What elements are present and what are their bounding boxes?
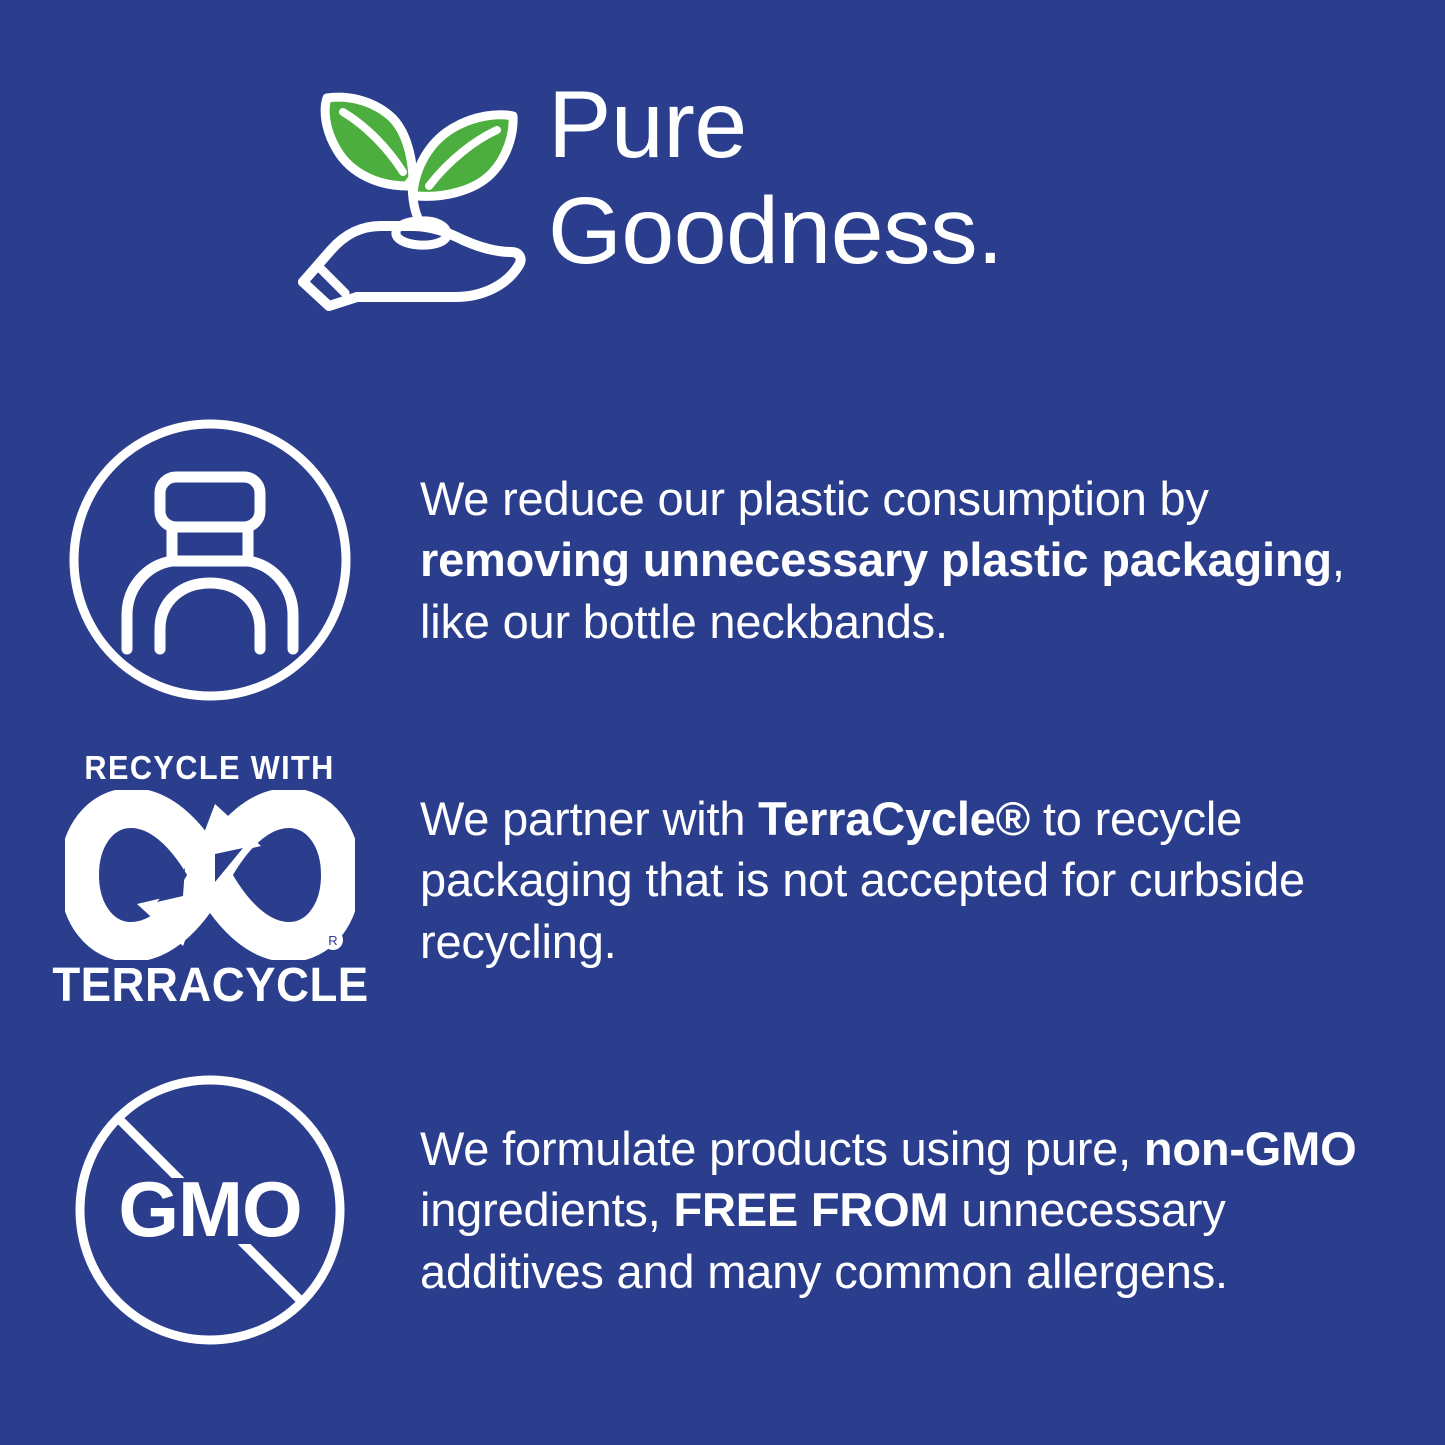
text-segment-bold: removing unnecessary plastic packaging (420, 533, 1332, 586)
feature-text-plastic: We reduce our plastic consumption by rem… (420, 468, 1405, 651)
brand-wordmark: Pure Goodness. (548, 72, 1003, 285)
text-segment: We partner with (420, 792, 758, 845)
registered-mark-icon: R (323, 930, 343, 950)
feature-text-terracycle: We partner with TerraCycle® to recycle p… (420, 788, 1405, 971)
brand-line-1: Pure (548, 72, 1003, 178)
text-segment: We reduce our plastic consumption by (420, 472, 1209, 525)
svg-text:R: R (328, 933, 337, 948)
terracycle-bottom-label: TERRACYCLE (52, 962, 368, 1010)
bottle-in-circle-icon (65, 415, 355, 705)
feature-icon-cell: RECYCLE WITH R TE (0, 751, 420, 1010)
no-gmo-icon: GMO (70, 1070, 350, 1350)
terracycle-top-label: RECYCLE WITH (85, 751, 335, 784)
feature-row-gmo: GMO We formulate products using pure, no… (0, 1060, 1445, 1360)
feature-text-cell: We reduce our plastic consumption by rem… (420, 421, 1445, 698)
text-segment: ingredients, (420, 1183, 673, 1236)
feature-text-gmo: We formulate products using pure, non-GM… (420, 1118, 1405, 1301)
gmo-label: GMO (118, 1165, 301, 1253)
feature-icon-cell (0, 415, 420, 705)
brand-header: Pure Goodness. (295, 72, 1345, 322)
text-segment-bold: TerraCycle® (758, 792, 1030, 845)
infographic-page: Pure Goodness. (0, 0, 1445, 1445)
terracycle-logo-icon: RECYCLE WITH R TE (60, 751, 360, 1010)
brand-line-2: Goodness. (548, 178, 1003, 284)
feature-text-cell: We formulate products using pure, non-GM… (420, 1071, 1445, 1348)
hand-holding-sprout-icon (295, 82, 530, 312)
feature-icon-cell: GMO (0, 1070, 420, 1350)
text-segment-bold: non-GMO (1144, 1122, 1357, 1175)
text-segment-bold: FREE FROM (673, 1183, 948, 1236)
feature-row-plastic: We reduce our plastic consumption by rem… (0, 400, 1445, 720)
feature-row-terracycle: RECYCLE WITH R TE (0, 740, 1445, 1020)
text-segment: We formulate products using pure, (420, 1122, 1144, 1175)
feature-text-cell: We partner with TerraCycle® to recycle p… (420, 741, 1445, 1018)
